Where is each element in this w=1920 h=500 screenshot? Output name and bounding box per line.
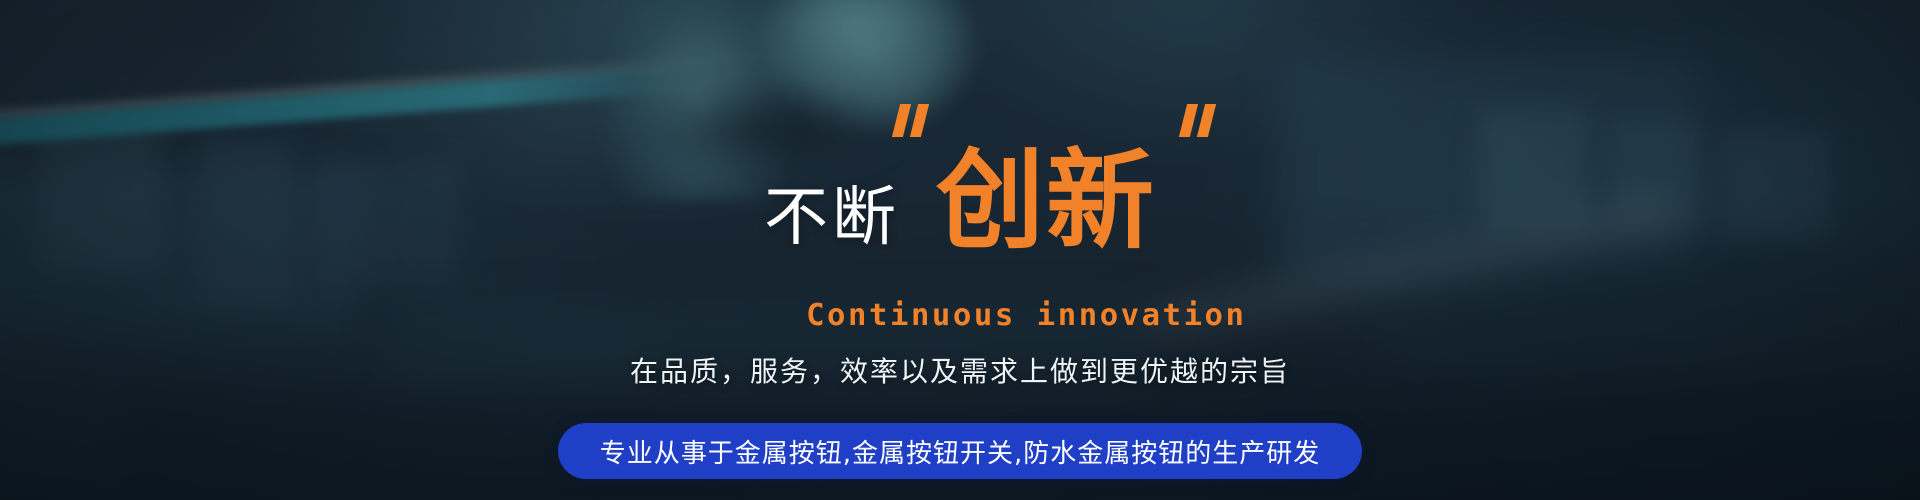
headline-keyword-group: 创新 xyxy=(936,148,1156,256)
cta-button[interactable]: 专业从事于金属按钮,金属按钮开关,防水金属按钮的生产研发 xyxy=(558,423,1363,479)
quote-open-icon xyxy=(896,104,925,137)
headline-keyword: 创新 xyxy=(936,148,1156,256)
headline: 不断 创新 xyxy=(0,148,1920,256)
tagline-chinese: 在品质，服务，效率以及需求上做到更优越的宗旨 xyxy=(0,350,1920,390)
cta-row: 专业从事于金属按钮,金属按钮开关,防水金属按钮的生产研发 xyxy=(0,423,1920,479)
hero-banner: 不断 创新 Continuous innovation 在品质，服务，效率以及需… xyxy=(0,0,1920,500)
headline-prefix: 不断 xyxy=(764,186,900,256)
tagline-english: Continuous innovation xyxy=(0,298,1920,333)
quote-close-icon xyxy=(1183,104,1212,137)
banner-content: 不断 创新 Continuous innovation 在品质，服务，效率以及需… xyxy=(0,0,1920,500)
